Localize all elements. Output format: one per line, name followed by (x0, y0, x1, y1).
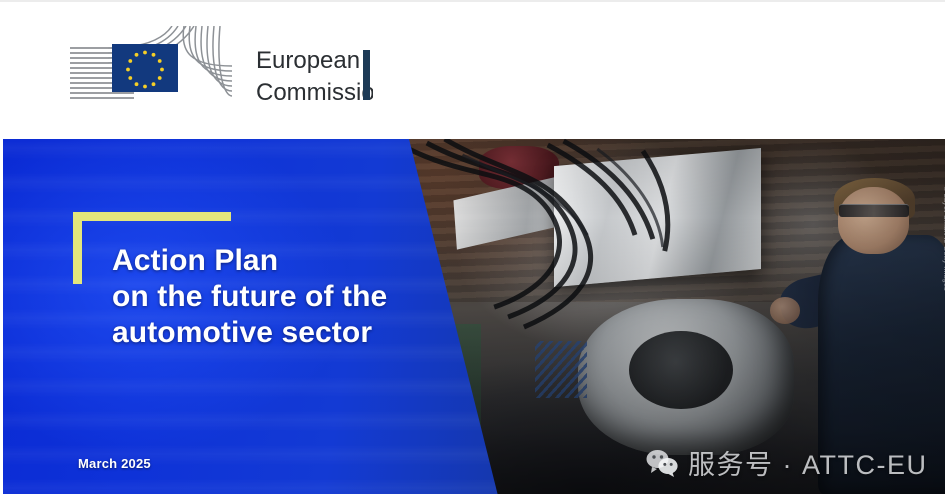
european-commission-logo: European Commission (68, 26, 373, 112)
page-title: Action Plan on the future of the automot… (112, 243, 512, 351)
title-line-2: on the future of the (112, 279, 512, 315)
watermark-text: 服务号 · ATTC-EU (688, 443, 927, 482)
header-band: European Commission European Commission (0, 0, 945, 139)
wechat-icon (645, 448, 679, 478)
title-line-1: Action Plan (112, 243, 512, 279)
title-line-3: automotive sector (112, 315, 512, 351)
logo-text-commission: Commission (256, 79, 373, 106)
logo-text-european: European (256, 47, 360, 74)
watermark: 服务号 · ATTC-EU (645, 443, 927, 482)
document-page: European Commission European Commission (0, 0, 945, 494)
publication-date: March 2025 (78, 456, 151, 471)
